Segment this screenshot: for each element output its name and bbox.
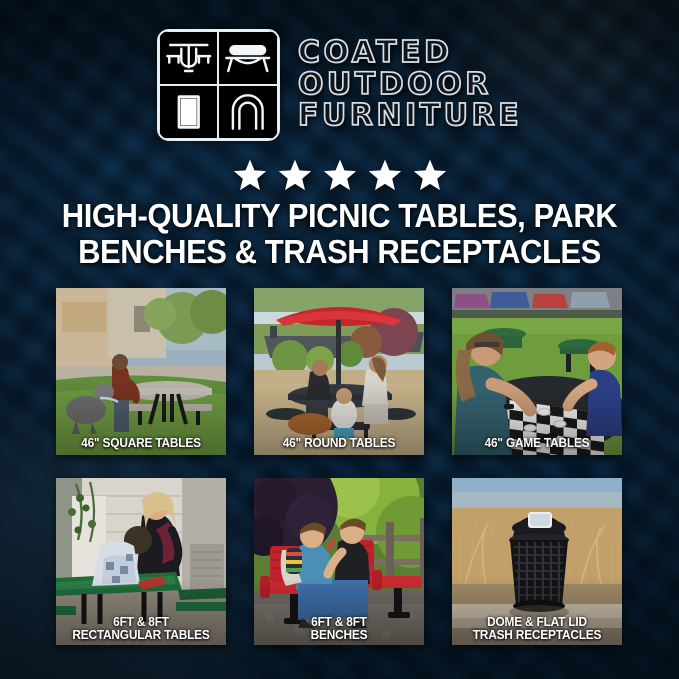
product-photo-square-tables: [56, 288, 226, 455]
logo-icon-grid: [157, 29, 280, 141]
product-caption: 46" GAME TABLES: [456, 437, 618, 450]
product-caption-line-2: BENCHES: [261, 629, 417, 642]
star-icon: [233, 158, 267, 192]
star-rating: [0, 158, 679, 192]
bike-rack-icon: [218, 85, 278, 139]
product-tile-benches[interactable]: 6FT & 8FT BENCHES: [254, 478, 424, 645]
brand-logo: COATED OUTDOOR FURNITURE: [0, 25, 679, 145]
headline-line-1: HIGH-QUALITY PICNIC TABLES, PARK: [47, 198, 633, 234]
product-caption: 46" SQUARE TABLES: [60, 437, 222, 450]
product-tile-game-tables[interactable]: 46" GAME TABLES: [452, 288, 622, 455]
star-icon: [368, 158, 402, 192]
product-caption: 6FT & 8FT BENCHES: [258, 616, 420, 643]
poster-content: COATED OUTDOOR FURNITURE HIGH-QUALITY PI…: [0, 0, 679, 679]
page-title: HIGH-QUALITY PICNIC TABLES, PARK BENCHES…: [20, 198, 658, 269]
product-grid: 46" SQUARE TABLES: [56, 288, 622, 645]
product-caption: 6FT & 8FT RECTANGULAR TABLES: [60, 616, 222, 643]
brand-wordmark: COATED OUTDOOR FURNITURE: [298, 38, 522, 132]
product-caption-line-2: TRASH RECEPTACLES: [459, 629, 615, 642]
star-icon: [323, 158, 357, 192]
park-bench-icon: [218, 31, 278, 85]
brand-line-3: FURNITURE: [298, 101, 522, 132]
product-tile-square-tables[interactable]: 46" SQUARE TABLES: [56, 288, 226, 455]
brand-line-2: OUTDOOR: [298, 70, 492, 101]
star-icon: [413, 158, 447, 192]
poster-canvas: COATED OUTDOOR FURNITURE HIGH-QUALITY PI…: [0, 0, 679, 679]
product-caption: 46" ROUND TABLES: [258, 437, 420, 450]
trash-receptacle-icon: [159, 85, 219, 139]
product-tile-trash-receptacles[interactable]: DOME & FLAT LID TRASH RECEPTACLES: [452, 478, 622, 645]
product-tile-rectangular-tables[interactable]: 6FT & 8FT RECTANGULAR TABLES: [56, 478, 226, 645]
round-picnic-table-icon: [159, 31, 219, 85]
star-icon: [278, 158, 312, 192]
product-photo-round-tables: [254, 288, 424, 455]
headline-line-2: BENCHES & TRASH RECEPTACLES: [47, 234, 633, 270]
product-caption: DOME & FLAT LID TRASH RECEPTACLES: [456, 616, 618, 643]
brand-line-1: COATED: [298, 38, 452, 69]
product-tile-round-tables[interactable]: 46" ROUND TABLES: [254, 288, 424, 455]
product-caption-line-2: RECTANGULAR TABLES: [63, 629, 219, 642]
product-photo-game-tables: [452, 288, 622, 455]
